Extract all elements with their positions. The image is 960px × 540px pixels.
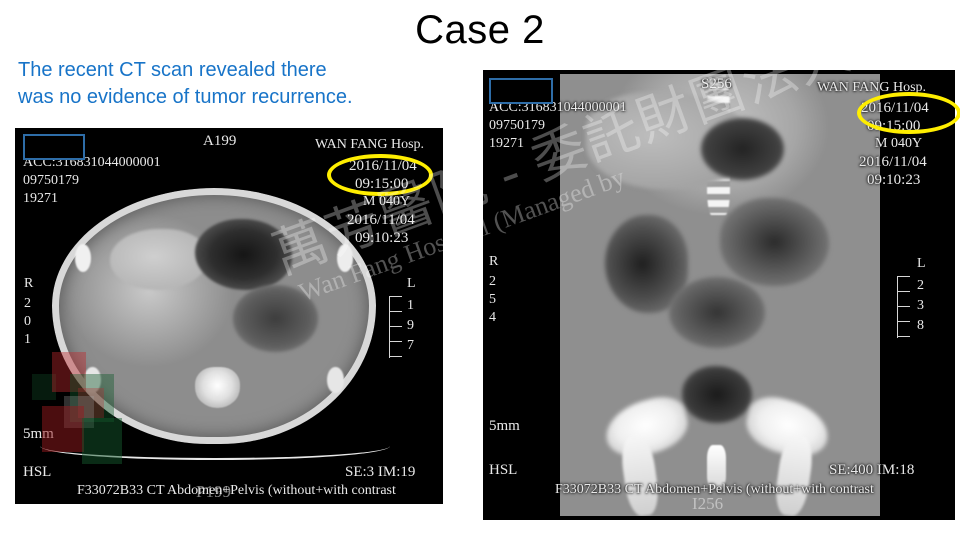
coronal-stomach-gas	[701, 118, 784, 180]
coronal-series-label: S256	[701, 76, 732, 93]
coronal-bladder	[682, 366, 752, 423]
axial-record-number: 19271	[23, 191, 58, 207]
axial-algorithm: HSL	[23, 464, 51, 481]
axial-institution-name: WAN FANG Hosp.	[315, 137, 424, 153]
axial-slice-thickness: 5mm	[23, 426, 54, 443]
axial-date-highlight-ellipse	[327, 154, 433, 196]
coronal-orientation-left: L	[917, 256, 926, 272]
slide-caption: The recent CT scan revealed there was no…	[18, 57, 448, 111]
coronal-scale-ruler	[897, 276, 911, 338]
coronal-window-left-0: 2	[489, 274, 496, 290]
coronal-ct-panel[interactable]: S256 ACC:316831044000001 09750179 19271 …	[483, 70, 955, 520]
axial-study-description: F33072B33 CT Abdomen+Pelvis (without+wit…	[77, 483, 396, 499]
axial-window-right-2: 7	[407, 338, 414, 354]
axial-rib-right	[337, 244, 353, 272]
axial-slice-watermark: P199	[196, 482, 231, 502]
axial-window-left-1: 0	[24, 314, 31, 330]
axial-soft-tissue-region	[110, 229, 207, 290]
axial-scanner-table-line	[40, 432, 390, 460]
coronal-window-right-0: 2	[917, 278, 924, 294]
axial-window-left-2: 1	[24, 332, 31, 348]
coronal-acquisition-date: 2016/11/04	[859, 154, 927, 171]
caption-line-1: The recent CT scan revealed there	[18, 57, 448, 84]
axial-patient-sex-age: M 040Y	[363, 194, 410, 210]
axial-patient-id: 09750179	[23, 173, 79, 189]
coronal-window-right-1: 3	[917, 298, 924, 314]
coronal-orientation-right: R	[489, 254, 498, 270]
coronal-algorithm: HSL	[489, 462, 517, 479]
axial-scan-image	[52, 188, 376, 444]
axial-orientation-left: L	[407, 276, 416, 292]
axial-window-right-1: 9	[407, 318, 414, 334]
axial-vertebra	[195, 367, 240, 408]
coronal-redacted-patient-name-box	[489, 78, 553, 104]
axial-rib-posterior-left	[84, 367, 100, 393]
coronal-series-image-number: SE:400 IM:18	[829, 462, 914, 479]
axial-organ-region	[233, 285, 317, 352]
axial-acquisition-time: 09:10:23	[355, 230, 408, 247]
coronal-window-left-2: 4	[489, 310, 496, 326]
axial-redacted-patient-name-box	[23, 134, 85, 160]
coronal-acquisition-time: 09:10:23	[867, 172, 920, 189]
coronal-window-left-1: 5	[489, 292, 496, 308]
axial-scale-ruler	[389, 296, 403, 358]
axial-orientation-right: R	[24, 276, 33, 292]
page-title: Case 2	[0, 6, 960, 54]
axial-window-right-0: 1	[407, 298, 414, 314]
coronal-bowel-central	[669, 277, 765, 348]
coronal-date-highlight-ellipse	[857, 92, 960, 134]
coronal-patient-sex-age: M 040Y	[875, 136, 922, 152]
axial-series-label: A199	[203, 133, 236, 150]
coronal-slice-watermark: I256	[692, 494, 723, 514]
caption-line-2: was no evidence of tumor recurrence.	[18, 84, 448, 111]
coronal-record-number: 19271	[489, 136, 524, 152]
coronal-scan-image	[560, 74, 880, 516]
axial-acquisition-date: 2016/11/04	[347, 212, 415, 229]
axial-rib-left	[75, 244, 91, 272]
axial-series-image-number: SE:3 IM:19	[345, 464, 415, 481]
coronal-patient-id: 09750179	[489, 118, 545, 134]
axial-window-left-0: 2	[24, 296, 31, 312]
axial-rib-posterior-right	[327, 367, 343, 393]
coronal-window-right-2: 8	[917, 318, 924, 334]
axial-bowel-gas-region	[195, 219, 292, 291]
coronal-bowel-right	[720, 198, 829, 286]
coronal-slice-thickness: 5mm	[489, 418, 520, 435]
